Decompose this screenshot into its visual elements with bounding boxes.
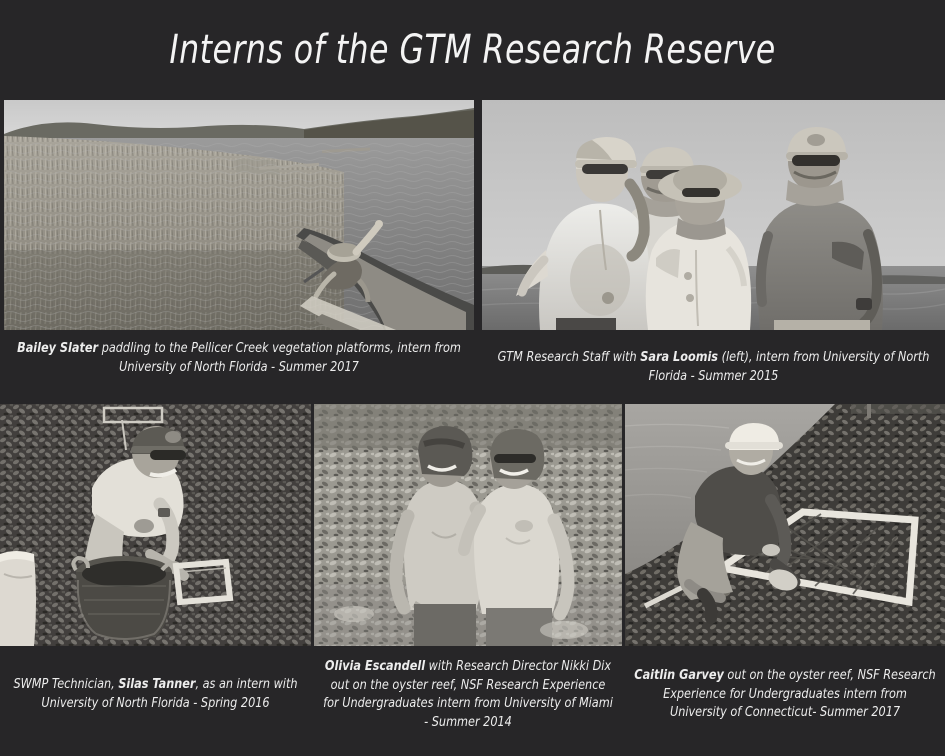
caption-rest-bailey-slater: paddling to the Pellicer Creek vegetatio… xyxy=(98,341,461,375)
caption-caitlin-garvey: Caitlin Garvey out on the oyster reef, N… xyxy=(633,667,937,723)
caption-olivia-escandell: Olivia Escandell with Research Director … xyxy=(322,658,615,733)
poster-title-bar: Interns of the GTM Research Reserve xyxy=(0,0,945,100)
photo-caitlin-garvey-reef xyxy=(625,404,945,646)
caption-gtm-research-staff: GTM Research Staff with Sara Loomis (lef… xyxy=(494,349,934,386)
caption-name-bailey-slater: Bailey Slater xyxy=(17,341,98,356)
caption-pre-sara-loomis: GTM Research Staff with xyxy=(498,350,641,365)
caption-bailey-slater: Bailey Slater paddling to the Pellicer C… xyxy=(16,340,463,377)
photo-silas-tanner-reef xyxy=(0,404,311,646)
caption-name-silas-tanner: Silas Tanner xyxy=(118,677,195,692)
caption-name-sara-loomis: Sara Loomis xyxy=(640,350,718,365)
caption-name-caitlin-garvey: Caitlin Garvey xyxy=(634,668,724,683)
photo-bailey-slater-canoe xyxy=(4,100,474,330)
caption-pre-silas-tanner: SWMP Technician, xyxy=(13,677,118,692)
caption-name-olivia-escandell: Olivia Escandell xyxy=(325,659,425,674)
caption-silas-tanner: SWMP Technician, Silas Tanner, as an int… xyxy=(8,676,303,713)
photo-gtm-research-staff xyxy=(482,100,945,330)
photo-olivia-escandell-reef xyxy=(314,404,622,646)
poster-root: Interns of the GTM Research Reserve xyxy=(0,0,945,756)
page-title: Interns of the GTM Research Reserve xyxy=(169,27,775,73)
